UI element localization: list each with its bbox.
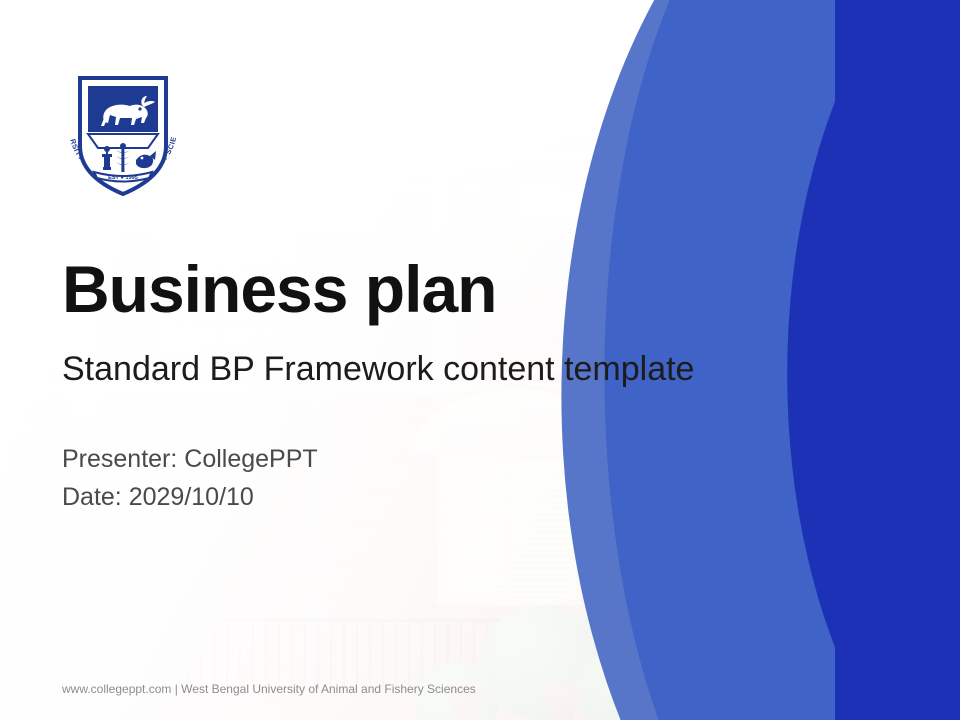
presentation-slide: WEST BENGAL UNIVERSITY OF ANIMAL AND FIS… bbox=[0, 0, 960, 720]
date-line: Date: 2029/10/10 bbox=[62, 481, 254, 515]
presenter-line: Presenter: CollegePPT bbox=[62, 443, 318, 477]
svg-text:EST ● 1995: EST ● 1995 bbox=[108, 175, 138, 181]
page-subtitle: Standard BP Framework content template bbox=[62, 350, 694, 389]
page-title: Business plan bbox=[62, 256, 496, 322]
university-logo: WEST BENGAL UNIVERSITY OF ANIMAL AND FIS… bbox=[58, 60, 188, 205]
footer-text: www.collegeppt.com | West Bengal Univers… bbox=[62, 679, 492, 699]
blue-right-edge bbox=[835, 0, 960, 720]
